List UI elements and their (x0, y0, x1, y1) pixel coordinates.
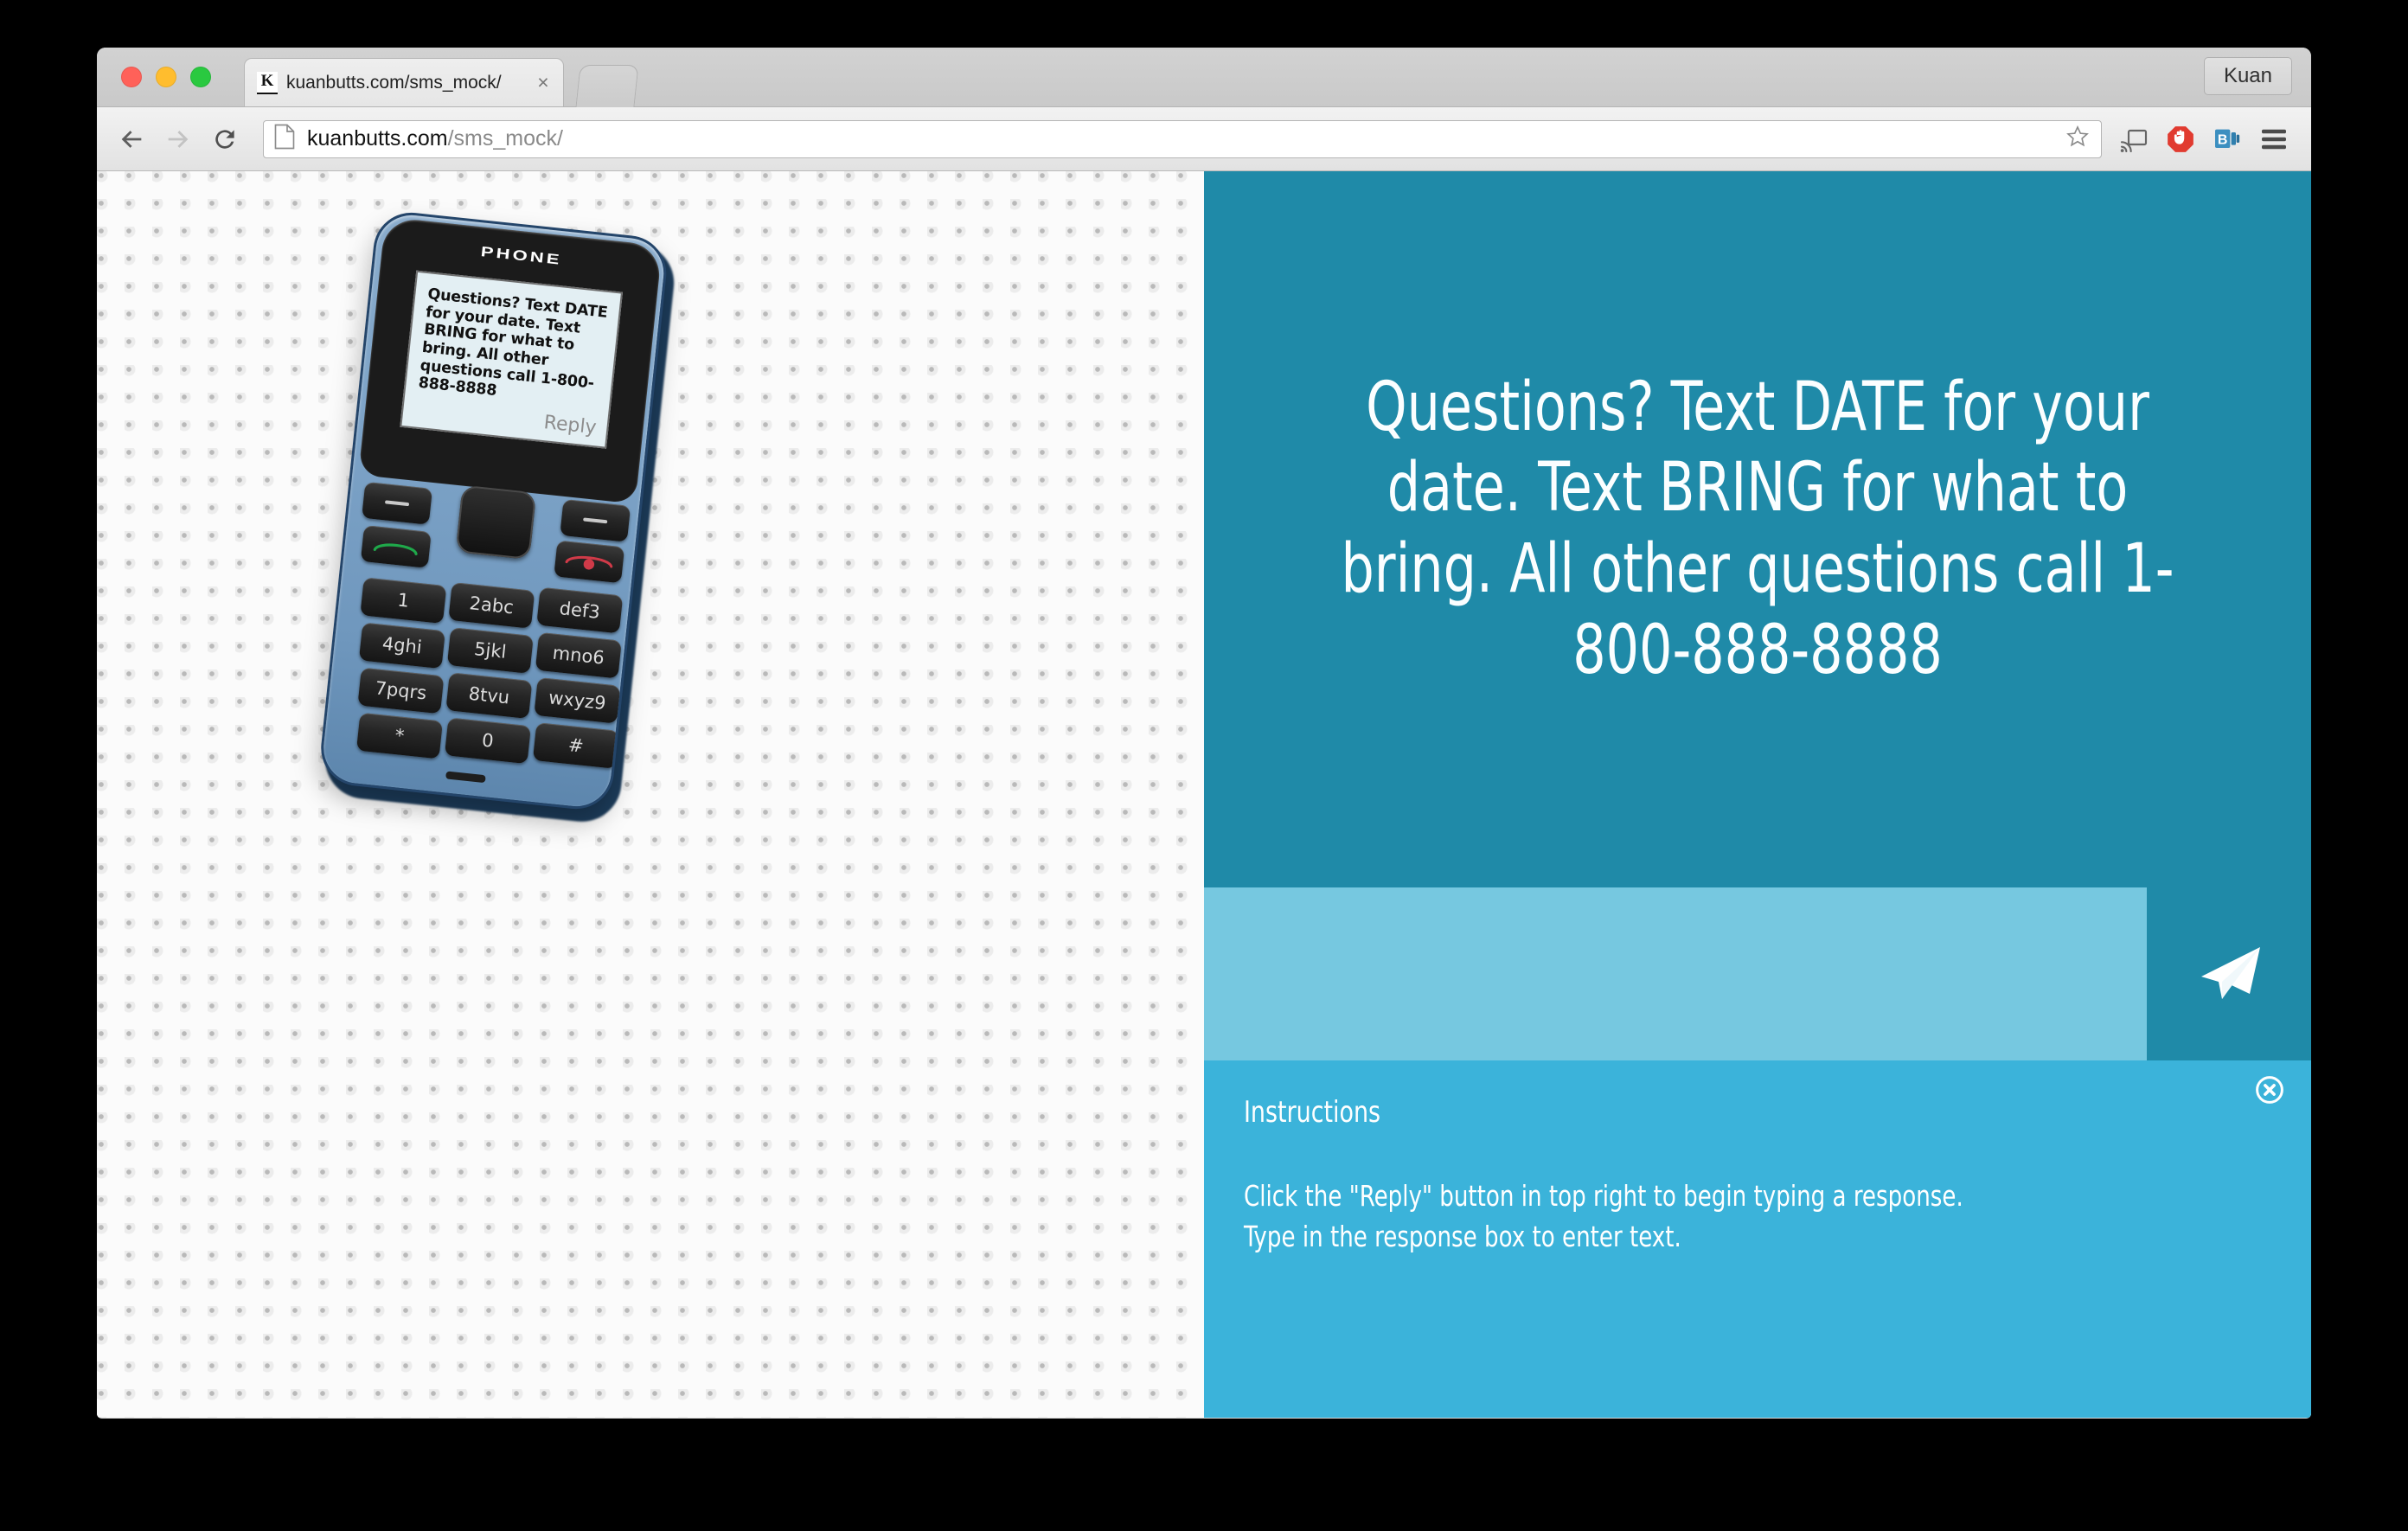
bookmark-star-icon[interactable] (2065, 124, 2091, 154)
address-bar[interactable]: kuanbutts.com/sms_mock/ (263, 120, 2102, 158)
send-paper-plane-icon (2193, 942, 2265, 1006)
dpad-center-key[interactable] (456, 485, 537, 561)
browser-toolbar: kuanbutts.com/sms_mock/ B (97, 107, 2311, 171)
end-call-red-icon (563, 549, 615, 573)
close-window-button[interactable] (121, 67, 142, 87)
feature-phone-mockup: PHONE Questions? Text DATE for your date… (316, 209, 678, 826)
reload-icon[interactable] (204, 119, 246, 160)
b-extension-icon[interactable]: B (2204, 116, 2251, 163)
key-star[interactable]: * (356, 713, 443, 759)
browser-tab[interactable]: K kuanbutts.com/sms_mock/ × (244, 58, 564, 106)
svg-text:B: B (2218, 132, 2228, 147)
phone-body: PHONE Questions? Text DATE for your date… (317, 209, 670, 813)
key-7pqrs[interactable]: 7pqrs (357, 668, 444, 714)
send-button[interactable] (2147, 887, 2311, 1060)
new-tab-button[interactable] (575, 65, 638, 107)
call-key[interactable] (361, 525, 432, 568)
instructions-panel: Instructions Click the "Reply" button in… (1204, 1060, 2311, 1418)
maximize-window-button[interactable] (190, 67, 211, 87)
dash-icon (583, 517, 607, 523)
minimize-window-button[interactable] (156, 67, 176, 87)
hamburger-menu-icon[interactable] (2251, 116, 2297, 163)
key-hash[interactable]: # (533, 722, 619, 769)
key-8tvu[interactable]: 8tvu (445, 672, 532, 719)
dash-icon (385, 500, 409, 506)
browser-window: K kuanbutts.com/sms_mock/ × Kuan (97, 48, 2311, 1419)
page-viewport: PHONE Questions? Text DATE for your date… (97, 171, 2311, 1418)
key-mno6[interactable]: mno6 (535, 632, 622, 679)
conversation-pane: Questions? Text DATE for your date. Text… (1204, 171, 2311, 1418)
key-2abc[interactable]: 2abc (448, 582, 535, 629)
page-document-icon (274, 124, 295, 154)
url-path: /sms_mock/ (448, 126, 563, 151)
phone-top-panel: PHONE Questions? Text DATE for your date… (358, 217, 663, 504)
url-domain: kuanbutts.com (307, 126, 448, 151)
right-soft-key[interactable] (560, 499, 631, 542)
key-0[interactable]: 0 (445, 717, 531, 764)
key-1[interactable]: 1 (360, 577, 446, 624)
response-input[interactable] (1204, 887, 2147, 1060)
key-wxyz9[interactable]: wxyz9 (534, 677, 620, 724)
tab-favicon-icon: K (257, 72, 278, 94)
left-soft-key[interactable] (362, 482, 432, 525)
forward-arrow-icon (157, 119, 199, 160)
back-arrow-icon[interactable] (111, 119, 152, 160)
phone-mockup-pane: PHONE Questions? Text DATE for your date… (97, 171, 1204, 1418)
instructions-line-1: Click the "Reply" button in top right to… (1244, 1176, 2148, 1217)
address-bar-url: kuanbutts.com/sms_mock/ (307, 126, 2056, 151)
call-green-icon (372, 536, 420, 557)
message-panel: Questions? Text DATE for your date. Text… (1204, 171, 2311, 887)
instructions-line-2: Type in the response box to enter text. (1244, 1217, 2148, 1258)
window-traffic-lights (121, 67, 211, 87)
key-def3[interactable]: def3 (536, 587, 623, 634)
tab-strip: K kuanbutts.com/sms_mock/ × Kuan (97, 48, 2311, 107)
conversation-message-text: Questions? Text DATE for your date. Text… (1334, 368, 2181, 691)
instructions-title: Instructions (1244, 1095, 2148, 1130)
phone-sms-text: Questions? Text DATE for your date. Text… (418, 285, 610, 411)
end-call-key[interactable] (554, 540, 624, 583)
adblock-hand-icon[interactable] (2157, 116, 2204, 163)
compose-row (1204, 887, 2311, 1060)
close-circle-icon[interactable] (2254, 1074, 2285, 1105)
key-4ghi[interactable]: 4ghi (359, 622, 445, 669)
cast-icon[interactable] (2110, 116, 2157, 163)
profile-button[interactable]: Kuan (2204, 57, 2292, 95)
key-5jkl[interactable]: 5jkl (447, 627, 534, 674)
phone-bottom-notch (445, 771, 486, 783)
phone-reply-button[interactable]: Reply (542, 412, 597, 439)
phone-keypad: 1 2abc def3 4ghi 5jkl mno6 7pqrs 8tvu wx… (336, 482, 631, 785)
phone-screen: Questions? Text DATE for your date. Text… (400, 271, 623, 449)
tab-close-icon[interactable]: × (532, 72, 554, 94)
tab-title: kuanbutts.com/sms_mock/ (286, 73, 532, 93)
